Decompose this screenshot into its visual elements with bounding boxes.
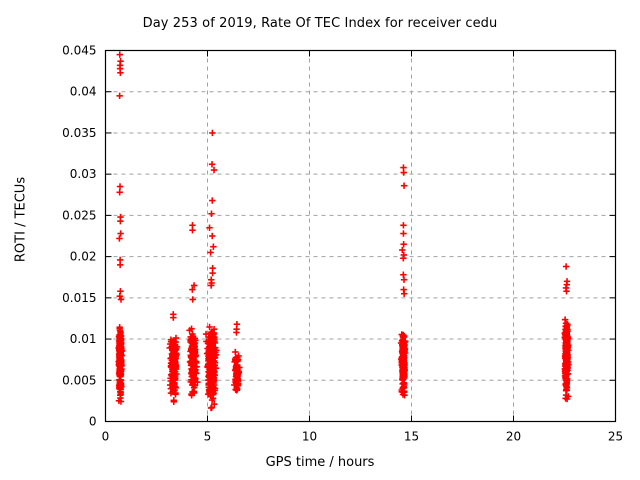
data-point [170,314,176,320]
y-tick-label: 0.035 [62,126,96,140]
data-point [171,397,177,403]
data-point [190,296,196,302]
grid-layer [106,51,616,422]
data-point [117,218,123,224]
data-point [400,222,406,228]
tick-label-layer: 00.0050.010.0150.020.0250.030.0350.040.0… [62,44,623,444]
y-axis-label: ROTI / TECUs [14,150,29,290]
y-tick-label: 0.03 [70,167,97,181]
data-point [401,183,407,189]
y-tick-label: 0.025 [62,208,96,222]
data-point [401,291,407,297]
data-point [117,230,123,236]
x-tick-label: 25 [608,430,623,444]
data-points-layer [115,51,571,411]
data-point [116,93,122,99]
data-point [209,161,215,167]
data-point [400,241,406,247]
tick-layer [106,51,616,422]
x-tick-label: 15 [404,430,419,444]
data-point [211,167,217,173]
rot-scatter-plot: Day 253 of 2019, Rate Of TEC Index for r… [0,0,640,480]
data-point [209,270,215,276]
y-tick-label: 0.005 [62,373,96,387]
y-tick-label: 0.01 [70,332,97,346]
data-point [189,227,195,233]
y-axis-label-wrap: ROTI / TECUs [6,0,28,480]
data-point [210,244,216,250]
data-point [209,130,215,136]
data-point [117,262,123,268]
plot-frame [106,51,616,422]
x-tick-label: 0 [102,430,110,444]
data-point [233,329,239,335]
x-tick-label: 5 [204,430,212,444]
data-point [116,235,122,241]
data-point [207,249,213,255]
data-point [232,349,238,355]
data-point [563,288,569,294]
data-point [564,281,570,287]
y-tick-label: 0 [89,415,97,429]
data-point [400,255,406,261]
y-tick-label: 0.02 [70,250,97,264]
data-point [116,189,122,195]
x-tick-label: 20 [506,430,521,444]
data-point [400,230,406,236]
plot-canvas: 00.0050.010.0150.020.0250.030.0350.040.0… [0,0,640,480]
y-tick-label: 0.045 [62,44,96,58]
data-point [400,169,406,175]
data-point [117,70,123,76]
y-tick-label: 0.015 [62,291,96,305]
data-point [117,293,123,299]
data-point [209,233,215,239]
data-point [209,197,215,203]
data-point [401,276,407,282]
data-point [563,263,569,269]
x-axis-label: GPS time / hours [0,455,640,470]
data-point [117,183,123,189]
x-tick-label: 10 [302,430,317,444]
data-point [118,296,124,302]
data-point [117,51,123,57]
y-tick-label: 0.04 [70,85,97,99]
data-point [208,211,214,217]
